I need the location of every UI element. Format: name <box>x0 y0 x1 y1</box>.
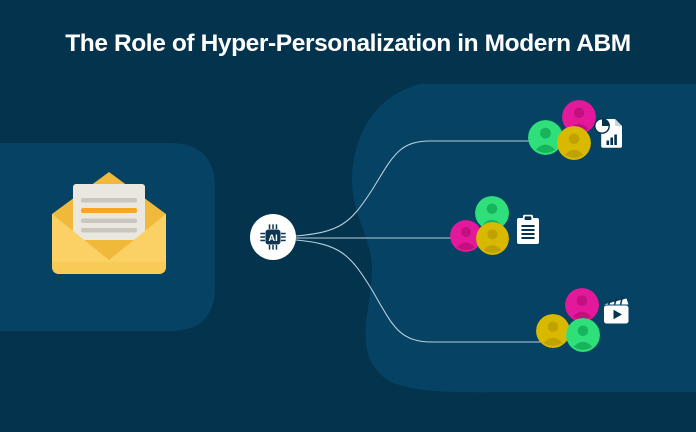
ai-engine-node[interactable]: AI <box>250 214 296 260</box>
avatar-yellow[interactable] <box>476 222 509 255</box>
envelope-front-shadow <box>52 262 166 274</box>
letter-line-accent <box>81 208 137 213</box>
branch-middle-cluster[interactable] <box>445 196 565 262</box>
letter-line-3 <box>81 219 137 224</box>
avatar-yellow[interactable] <box>557 126 591 160</box>
branch-top-cluster[interactable] <box>520 100 640 166</box>
report-chart-document-icon[interactable] <box>594 117 624 149</box>
letter-line-1 <box>81 198 137 203</box>
avatar-yellow[interactable] <box>536 314 570 348</box>
video-clapperboard-icon[interactable] <box>600 295 632 327</box>
branch-bottom-cluster[interactable] <box>528 288 648 358</box>
avatar-magenta[interactable] <box>565 288 599 322</box>
ai-label: AI <box>268 233 277 243</box>
avatar-green[interactable] <box>566 318 600 352</box>
letter-line-4 <box>81 228 137 233</box>
clipboard-icon[interactable] <box>515 214 541 246</box>
open-envelope-icon <box>44 170 174 280</box>
ai-chip-icon: AI <box>258 222 288 252</box>
page-title: The Role of Hyper-Personalization in Mod… <box>0 30 696 58</box>
infographic-canvas: The Role of Hyper-Personalization in Mod… <box>0 0 696 432</box>
